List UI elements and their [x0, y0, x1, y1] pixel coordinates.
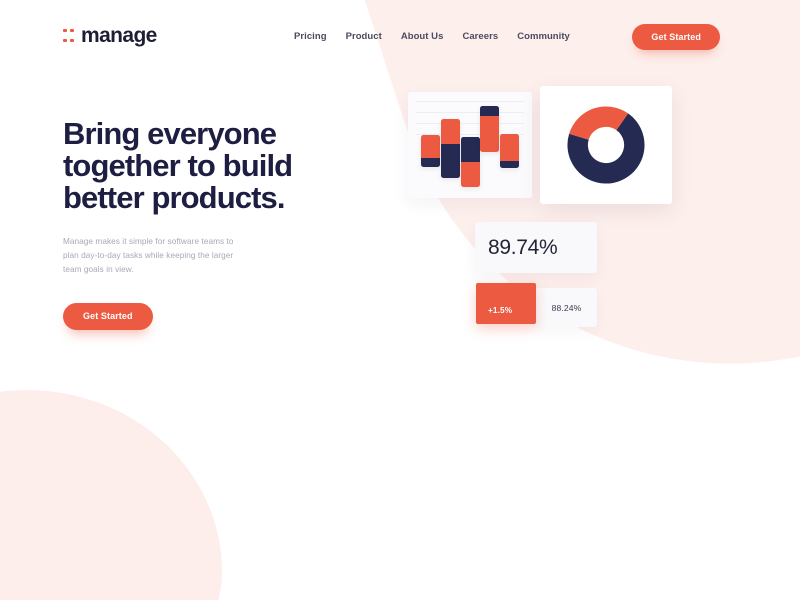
- hero-get-started-button[interactable]: Get Started: [63, 303, 153, 330]
- bar-chart-bar: [461, 137, 480, 187]
- bar-segment-lower: [421, 158, 440, 166]
- nav-item-careers[interactable]: Careers: [462, 31, 498, 42]
- donut-slice: [569, 106, 628, 139]
- brand-name: manage: [81, 25, 157, 46]
- bar-chart-bar: [480, 106, 499, 152]
- landing-page: manage Pricing Product About Us Careers …: [0, 0, 800, 600]
- nav-item-product[interactable]: Product: [346, 31, 382, 42]
- secondary-stat-value: 88.24%: [552, 303, 582, 313]
- bar-segment-upper: [461, 162, 480, 187]
- logo-dots-icon: [63, 29, 74, 42]
- page-title: Bring everyone together to build better …: [63, 118, 363, 215]
- header-get-started-button[interactable]: Get Started: [632, 24, 720, 50]
- bar-segment-lower: [441, 144, 460, 178]
- primary-stat-value: 89.74%: [488, 237, 557, 258]
- bar-segment-upper: [480, 116, 499, 152]
- bar-chart-plot: [408, 92, 532, 198]
- bar-segment-lower: [500, 161, 519, 168]
- bar-chart-bar: [500, 134, 519, 168]
- site-header: manage Pricing Product About Us Careers …: [0, 0, 800, 72]
- bar-segment-upper: [500, 134, 519, 161]
- brand-logo[interactable]: manage: [63, 25, 157, 46]
- nav-item-about-us[interactable]: About Us: [401, 31, 444, 42]
- primary-stat-card: 89.74%: [475, 222, 597, 273]
- hero-subtitle: Manage makes it simple for software team…: [63, 235, 245, 278]
- secondary-stat-card: 88.24%: [536, 288, 597, 327]
- bar-segment-lower: [480, 106, 499, 116]
- nav-item-pricing[interactable]: Pricing: [294, 31, 327, 42]
- hero-title-line-2: together to build: [63, 150, 363, 182]
- delta-badge: +1.5%: [476, 283, 536, 324]
- bar-chart-card: [408, 92, 532, 198]
- donut-chart-card: [540, 86, 672, 204]
- hero-copy: Bring everyone together to build better …: [63, 118, 363, 330]
- hero-title-line-1: Bring everyone: [63, 118, 363, 150]
- bar-segment-upper: [441, 119, 460, 144]
- donut-chart-svg: [565, 104, 647, 186]
- bar-chart-bar: [421, 135, 440, 167]
- hero-title-line-3: better products.: [63, 182, 363, 214]
- decorative-blob-bottom-left: [0, 390, 222, 600]
- nav-item-community[interactable]: Community: [517, 31, 570, 42]
- donut-chart: [565, 104, 647, 186]
- bar-chart-bar: [441, 119, 460, 178]
- delta-badge-value: +1.5%: [488, 306, 512, 315]
- bar-segment-lower: [461, 137, 480, 162]
- main-nav: Pricing Product About Us Careers Communi…: [294, 31, 570, 42]
- bar-segment-upper: [421, 135, 440, 158]
